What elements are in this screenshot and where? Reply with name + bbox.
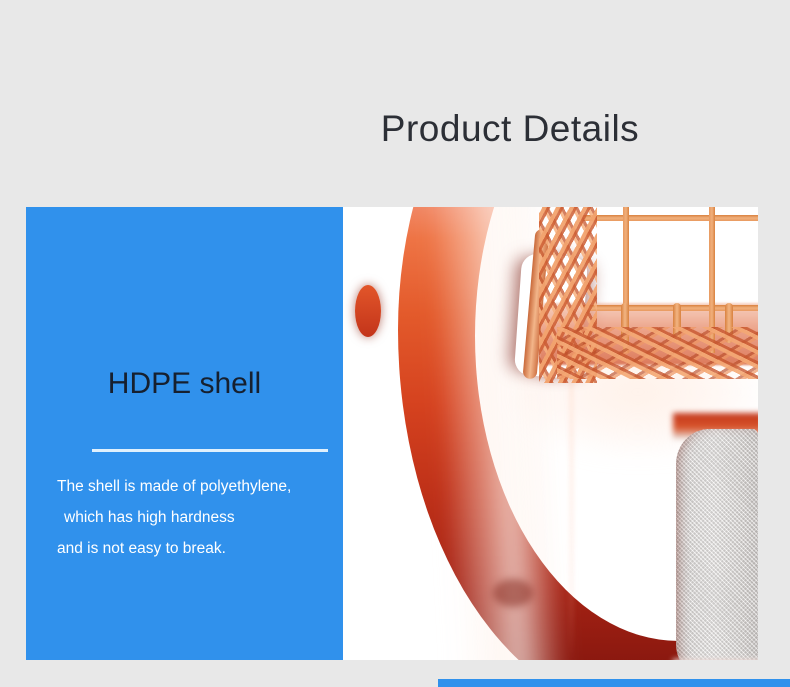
life-buoy-notch [355, 285, 381, 337]
product-photo-canvas [343, 207, 758, 660]
rope-tangle-cluster [557, 327, 758, 379]
bottom-accent-bar [438, 679, 790, 687]
reflective-tape-bottom-edge [673, 659, 758, 660]
product-details-section: Product Details HDPE shell The shell is … [0, 0, 790, 687]
content-band: HDPE shell The shell is made of polyethy… [26, 207, 758, 660]
info-panel-body-line: The shell is made of polyethylene, [57, 471, 343, 502]
reflective-tape [676, 429, 758, 660]
info-panel-divider [92, 449, 328, 452]
info-panel-heading: HDPE shell [26, 367, 343, 401]
page-title: Product Details [330, 108, 690, 150]
life-buoy-bump [493, 579, 533, 607]
info-panel: HDPE shell The shell is made of polyethy… [26, 207, 343, 660]
product-photo [343, 207, 758, 660]
info-panel-body-line: and is not easy to break. [57, 533, 343, 564]
info-panel-body-line: which has high hardness [57, 502, 343, 533]
info-panel-body: The shell is made of polyethylene, which… [57, 471, 343, 564]
